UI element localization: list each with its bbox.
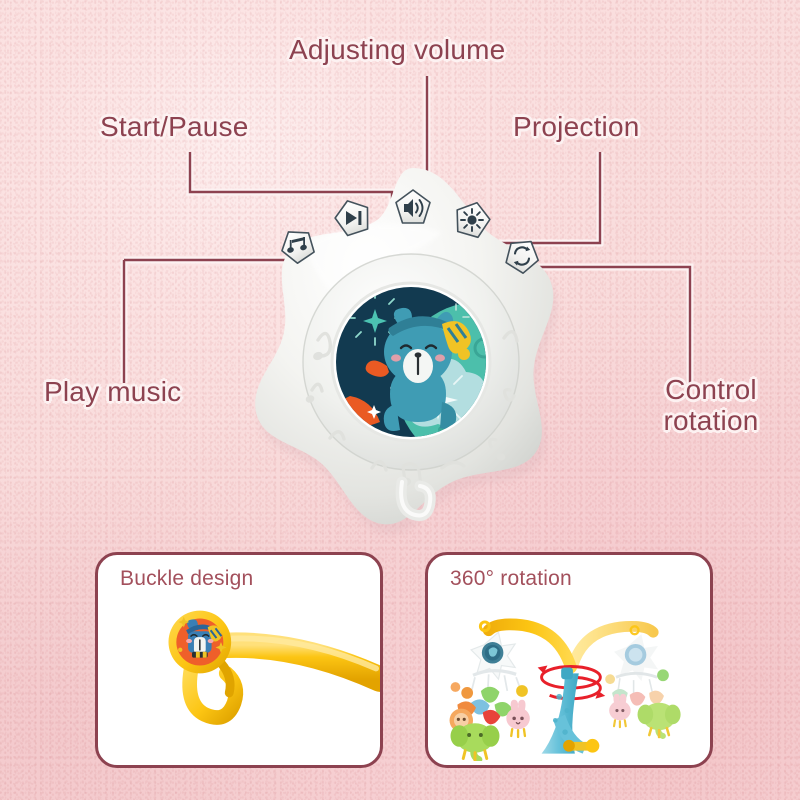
callout-label-play-music: Play music: [44, 377, 181, 408]
pole-collar: [561, 667, 573, 679]
toy-bunny-main: [506, 700, 529, 737]
callout-label-control-rotation: Control rotation: [626, 375, 796, 437]
infographic-page: Adjusting volume Start/Pause Projection …: [0, 0, 800, 800]
star-module-ghost: [605, 626, 680, 737]
toy-elephant-ghost: [638, 703, 681, 737]
hanging-toys-main: [450, 682, 530, 760]
callout-label-start-pause: Start/Pause: [100, 112, 249, 143]
callout-label-adjusting-volume: Adjusting volume: [289, 35, 505, 66]
star-module-main: [471, 622, 521, 693]
light-ray-icon: [461, 209, 483, 231]
panel-title-360-rotation: 360° rotation: [450, 567, 572, 591]
rotation-illustration: [428, 595, 710, 761]
panel-buckle-design: Buckle design: [95, 552, 383, 768]
panel-360-rotation: 360° rotation: [425, 552, 713, 768]
panel-title-buckle-design: Buckle design: [120, 567, 253, 591]
toy-elephant-main: [451, 723, 500, 760]
product-star-projector: [246, 152, 576, 542]
callout-label-projection: Projection: [513, 112, 640, 143]
buckle-design-illustration: [98, 595, 380, 761]
